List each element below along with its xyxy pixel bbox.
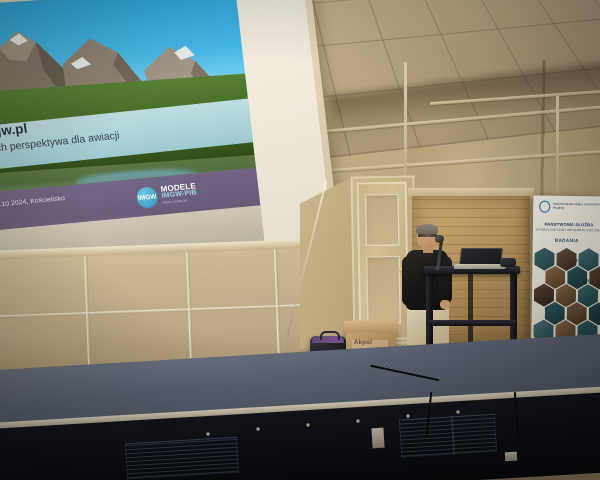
banner-hex — [545, 302, 565, 325]
door-panel-upper — [365, 194, 400, 247]
laptop[interactable] — [454, 248, 502, 268]
floor-vent — [125, 437, 239, 480]
backpack-handle — [320, 331, 340, 340]
wall-outlet[interactable] — [505, 452, 518, 462]
microphone-icon — [435, 235, 444, 243]
banner-hex — [556, 248, 576, 271]
screen-surface: ele.imgw.pl duktów i ich perspektywa dla… — [0, 0, 335, 281]
banner-keyword-0: BADANIA — [555, 238, 579, 243]
wall-outlet[interactable] — [371, 428, 384, 449]
banner-hex — [545, 266, 565, 289]
presentation-room-photo: ele.imgw.pl duktów i ich perspektywa dla… — [0, 0, 600, 480]
banner-hex — [578, 284, 598, 307]
institute-logo-icon — [539, 201, 550, 213]
floor-vent — [451, 414, 497, 455]
glasses-icon — [418, 234, 437, 237]
door-panel-lower — [366, 256, 401, 325]
presenter-remote[interactable] — [500, 258, 516, 267]
stage-edge-light — [406, 414, 410, 418]
laptop-keyboard[interactable] — [453, 264, 506, 269]
banner-subtitle: HYDROLOGICZNO-METEOROLOGICZNA — [533, 228, 600, 233]
banner-hex — [534, 284, 554, 307]
stage-edge-light — [256, 427, 260, 431]
banner-hex — [567, 266, 587, 289]
banner-hex — [578, 248, 598, 271]
box-label-text: Akpol — [354, 340, 372, 346]
banner-hex — [534, 248, 554, 271]
projected-slide: ele.imgw.pl duktów i ich perspektywa dla… — [0, 0, 265, 267]
box-flap — [344, 319, 398, 333]
lectern-shelf — [428, 320, 516, 326]
stage-edge-light — [456, 410, 460, 414]
banner-logo: Instytut Meteorologii i Gospodarki Wodne… — [539, 201, 600, 214]
wall-moulding — [556, 96, 559, 206]
stage-edge-light — [206, 432, 210, 436]
banner-logo-text: Instytut Meteorologii i Gospodarki Wodne… — [553, 203, 600, 211]
stage-edge-light — [356, 419, 360, 423]
stage-edge-light — [306, 423, 310, 427]
imgw-logo-text: MODELE IMGW-PIB meteo.imgw.pl — [160, 182, 198, 206]
banner-hex — [556, 284, 576, 307]
banner-hex — [567, 302, 587, 325]
banner-title: PAŃSTWOWA SŁUŻBA — [533, 222, 600, 228]
imgw-logo-mark: IMGW — [135, 186, 159, 209]
